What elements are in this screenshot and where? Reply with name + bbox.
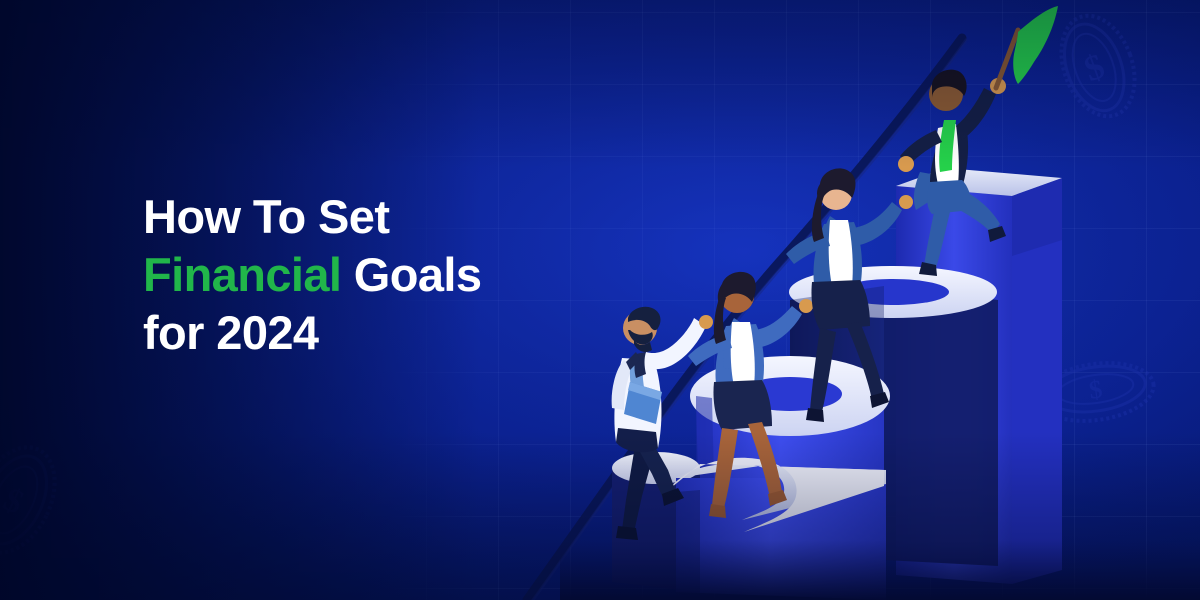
headline-line-3: for 2024 — [143, 304, 481, 362]
headline-line-1: How To Set — [143, 188, 481, 246]
banner: $ $ $ — [0, 0, 1200, 600]
headline-line-2-rest: Goals — [341, 248, 481, 301]
headline-accent-word: Financial — [143, 248, 341, 301]
page-title: How To Set Financial Goals for 2024 — [143, 188, 481, 362]
headline-line-2: Financial Goals — [143, 246, 481, 304]
